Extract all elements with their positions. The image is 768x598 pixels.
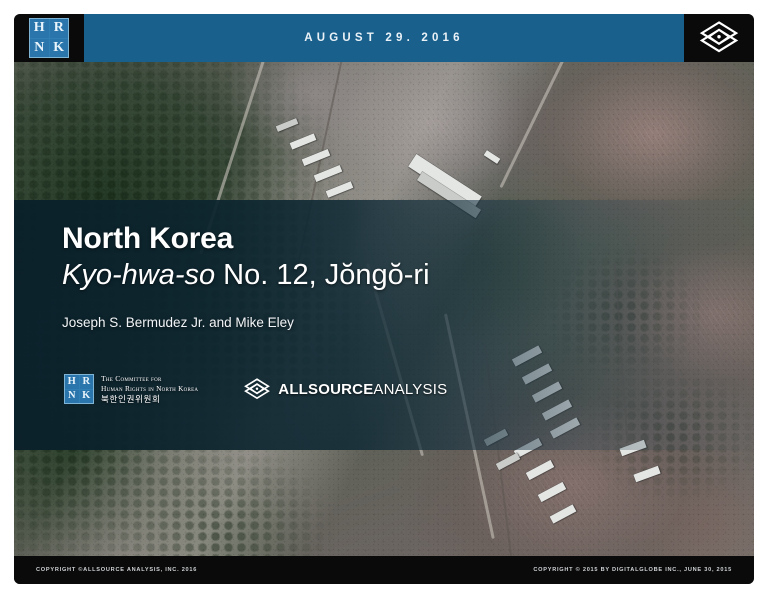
allsource-diamond-icon <box>244 377 270 401</box>
hrnk-wordmark: The Committee for Human Rights in North … <box>101 374 198 405</box>
hrnk-wordmark-line1: The Committee for <box>101 374 198 384</box>
subtitle-italic-term: Kyo-hwa-so <box>62 259 215 291</box>
allsource-wordmark: ALLSOURCEANALYSIS <box>278 381 447 398</box>
hrnk-logo-mark: H R N K <box>64 374 94 404</box>
hrnk-letter-r: R <box>80 375 94 389</box>
allsource-diamond-icon <box>699 20 739 56</box>
allsource-logo-group: ALLSOURCEANALYSIS <box>244 377 447 401</box>
title-block: North Korea Kyo-hwa-so No. 12, Jŏngŏ-ri … <box>62 222 622 330</box>
hrnk-letter-k: K <box>50 39 69 58</box>
cover-slide: H R N K AUGUST 29. 2016 North <box>0 0 768 598</box>
hrnk-letter-h: H <box>30 19 49 38</box>
footer-copyright-left: COPYRIGHT ©ALLSOURCE ANALYSIS, INC. 2016 <box>36 567 197 573</box>
authors-line: Joseph S. Bermudez Jr. and Mike Eley <box>62 315 622 330</box>
footer-bar: COPYRIGHT ©ALLSOURCE ANALYSIS, INC. 2016… <box>14 556 754 584</box>
header-bar: H R N K AUGUST 29. 2016 <box>14 14 754 62</box>
header-date-banner: AUGUST 29. 2016 <box>84 14 684 62</box>
hrnk-logo-mark: H R N K <box>29 18 69 58</box>
hrnk-letter-n: N <box>30 39 49 58</box>
page-subtitle: Kyo-hwa-so No. 12, Jŏngŏ-ri <box>62 258 622 293</box>
hrnk-wordmark-line2: Human Rights in North Korea <box>101 384 198 393</box>
subtitle-rest: No. 12, Jŏngŏ-ri <box>215 259 429 291</box>
footer-copyright-right: COPYRIGHT © 2015 BY DIGITALGLOBE INC., J… <box>533 567 732 573</box>
header-date-label: AUGUST 29. 2016 <box>304 32 464 44</box>
hrnk-letter-n: N <box>65 390 79 404</box>
page-title: North Korea <box>62 222 622 256</box>
organization-logos: H R N K The Committee for Human Rights i… <box>64 374 447 405</box>
hrnk-letter-h: H <box>65 375 79 389</box>
allsource-word-bold: ALLSOURCE <box>278 381 373 398</box>
header-allsource-logo <box>684 14 754 62</box>
header-hrnk-logo: H R N K <box>14 14 84 62</box>
hrnk-logo-group: H R N K The Committee for Human Rights i… <box>64 374 198 405</box>
hrnk-letter-r: R <box>50 19 69 38</box>
hrnk-wordmark-korean: 북한인권위원회 <box>101 394 198 405</box>
allsource-word-light: ANALYSIS <box>373 381 447 398</box>
hrnk-letter-k: K <box>80 390 94 404</box>
